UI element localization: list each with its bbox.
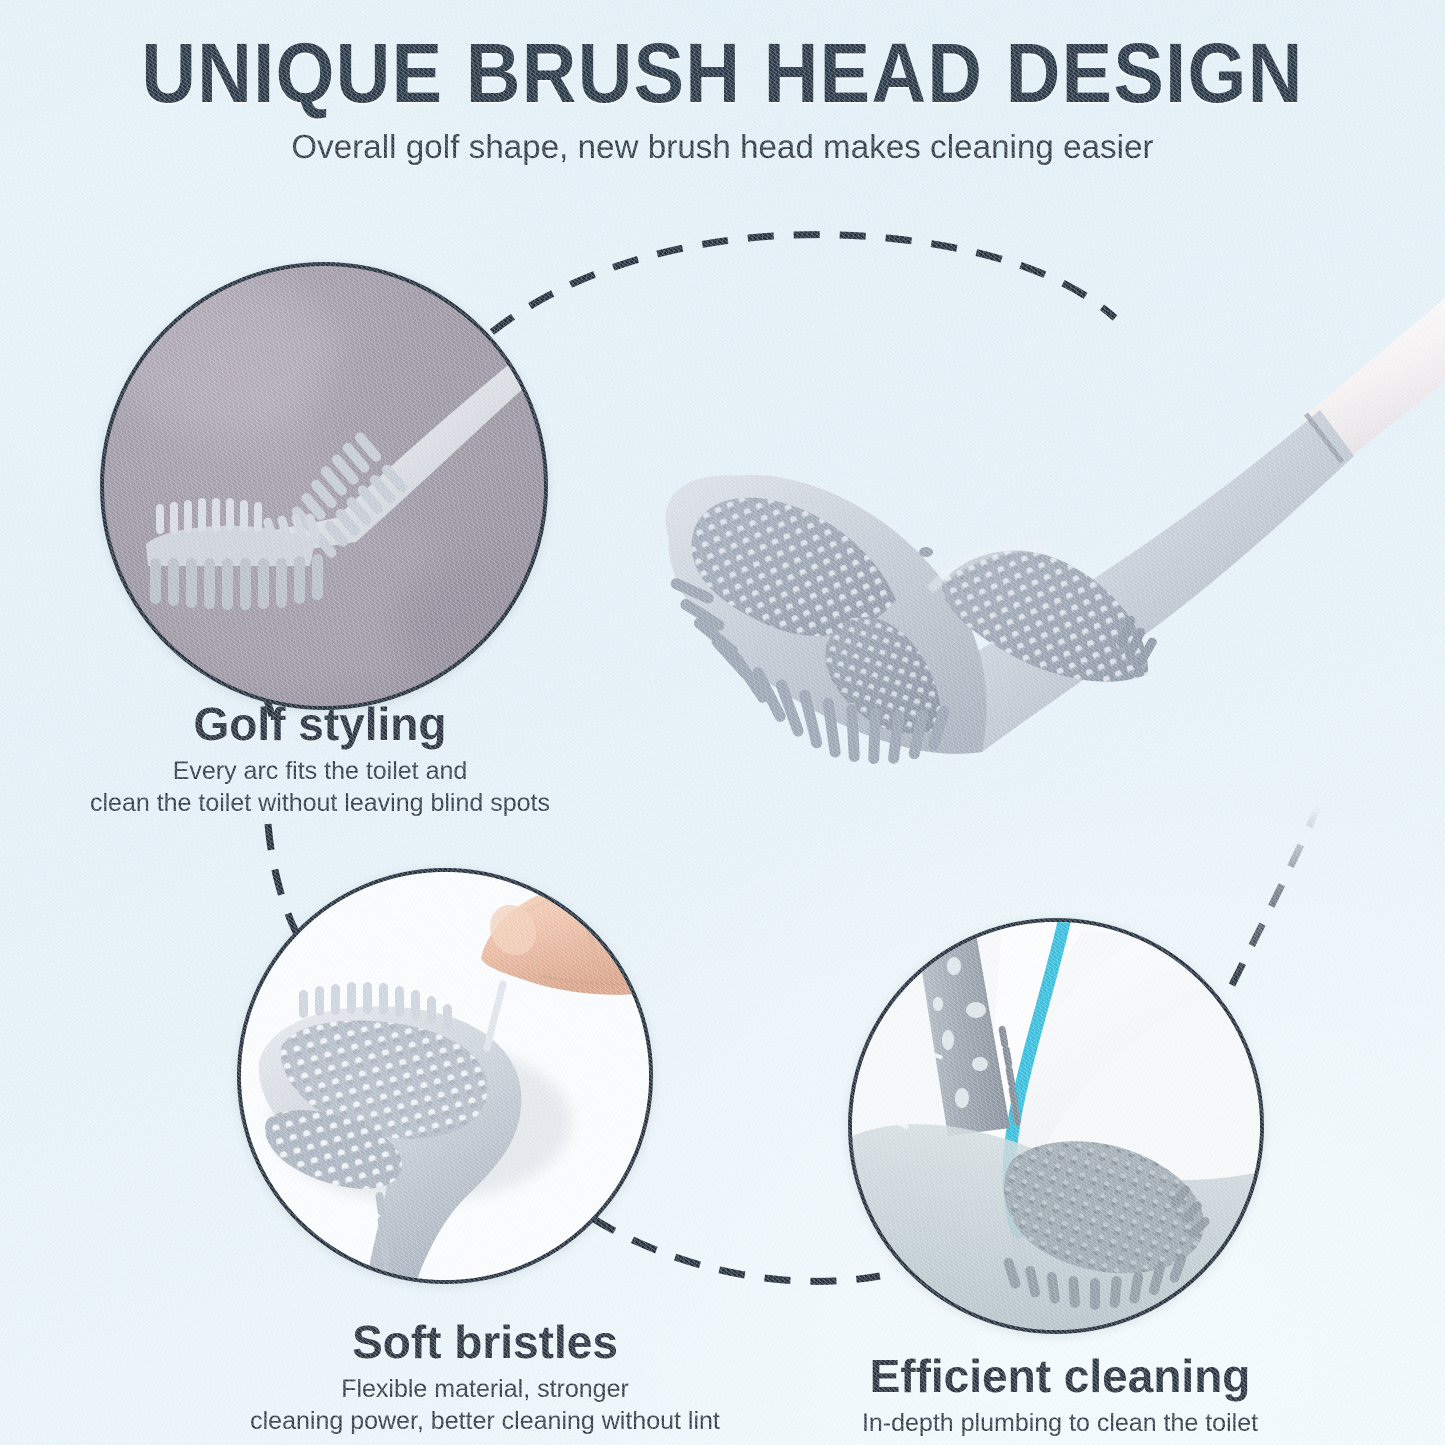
header: UNIQUE BRUSH HEAD DESIGN Overall golf sh…	[0, 0, 1445, 166]
callout-soft-desc-line-1: Flexible material, stronger	[225, 1374, 745, 1406]
callout-eff-desc: In-depth plumbing to clean the toilet	[830, 1408, 1290, 1440]
callout-golf-desc-line-1: Every arc fits the toilet and	[60, 756, 580, 788]
circle-efficient-cleaning	[848, 918, 1264, 1334]
callout-soft-title: Soft bristles	[225, 1318, 745, 1366]
callout-golf-desc-line-2: clean the toilet without leaving blind s…	[60, 788, 580, 820]
callout-soft-desc-line-2: cleaning power, better cleaning without …	[225, 1406, 745, 1438]
circle-soft-bristles	[237, 868, 653, 1284]
callout-golf-title: Golf styling	[60, 700, 580, 748]
hero-vent-hole	[919, 547, 933, 557]
soft-bristles-photo	[241, 872, 649, 1280]
callout-soft-bristles: Soft bristles Flexible material, stronge…	[225, 1318, 745, 1437]
infographic-canvas: UNIQUE BRUSH HEAD DESIGN Overall golf sh…	[0, 0, 1445, 1445]
hero-head-group	[669, 475, 1159, 764]
callout-golf-desc: Every arc fits the toilet and clean the …	[60, 756, 580, 819]
callout-efficient-cleaning: Efficient cleaning In-depth plumbing to …	[830, 1352, 1290, 1440]
callout-soft-desc: Flexible material, stronger cleaning pow…	[225, 1374, 745, 1437]
page-subtitle: Overall golf shape, new brush head makes…	[0, 114, 1445, 166]
circle-golf-styling	[100, 262, 548, 710]
efficient-cleaning-photo	[852, 922, 1260, 1330]
callout-eff-desc-line-1: In-depth plumbing to clean the toilet	[830, 1408, 1290, 1440]
hero-brush-image	[630, 290, 1445, 835]
callout-golf-styling: Golf styling Every arc fits the toilet a…	[60, 700, 580, 819]
golf-styling-photo	[104, 266, 544, 706]
golf-bg-texture	[114, 276, 544, 696]
callout-eff-title: Efficient cleaning	[830, 1352, 1290, 1400]
page-title: UNIQUE BRUSH HEAD DESIGN	[72, 0, 1373, 114]
